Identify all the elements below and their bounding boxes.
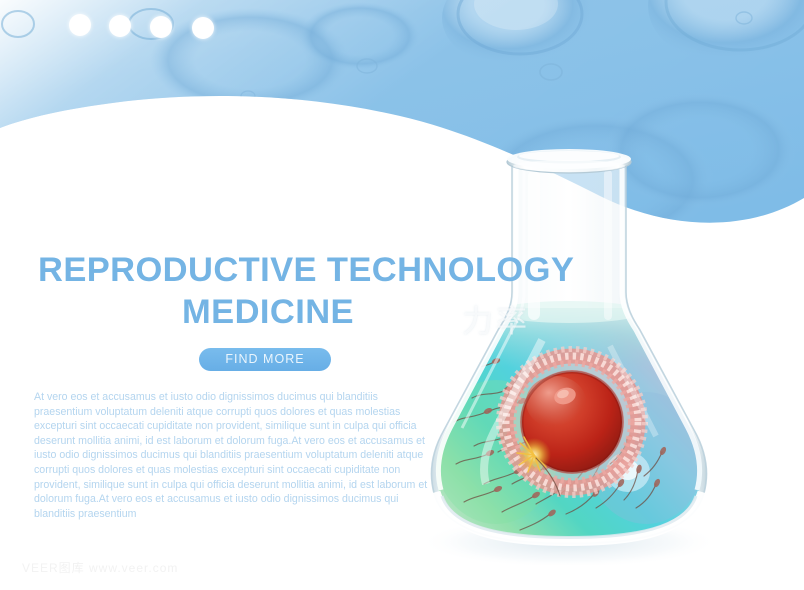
page-title-line2: MEDICINE bbox=[38, 292, 498, 332]
banner-canvas: 力率 REPRODUCTIVE TECHNOLOGY MEDICINE FIND… bbox=[0, 0, 804, 590]
bottom-watermark: VEER图库 www.veer.com bbox=[22, 559, 178, 576]
decorative-dot bbox=[192, 17, 214, 39]
decorative-dot bbox=[109, 15, 131, 37]
body-paragraph: At vero eos et accusamus et iusto odio d… bbox=[34, 390, 434, 521]
erlenmeyer-flask-graphic bbox=[424, 140, 714, 565]
flask-rim bbox=[507, 149, 631, 173]
ovum bbox=[499, 349, 645, 496]
find-more-button[interactable]: FIND MORE bbox=[199, 348, 331, 371]
decorative-dot bbox=[150, 16, 172, 38]
flask-illustration bbox=[424, 140, 714, 565]
decorative-dot bbox=[69, 14, 91, 36]
page-title-line1: REPRODUCTIVE TECHNOLOGY bbox=[38, 250, 498, 290]
flask-liquid bbox=[424, 301, 714, 548]
